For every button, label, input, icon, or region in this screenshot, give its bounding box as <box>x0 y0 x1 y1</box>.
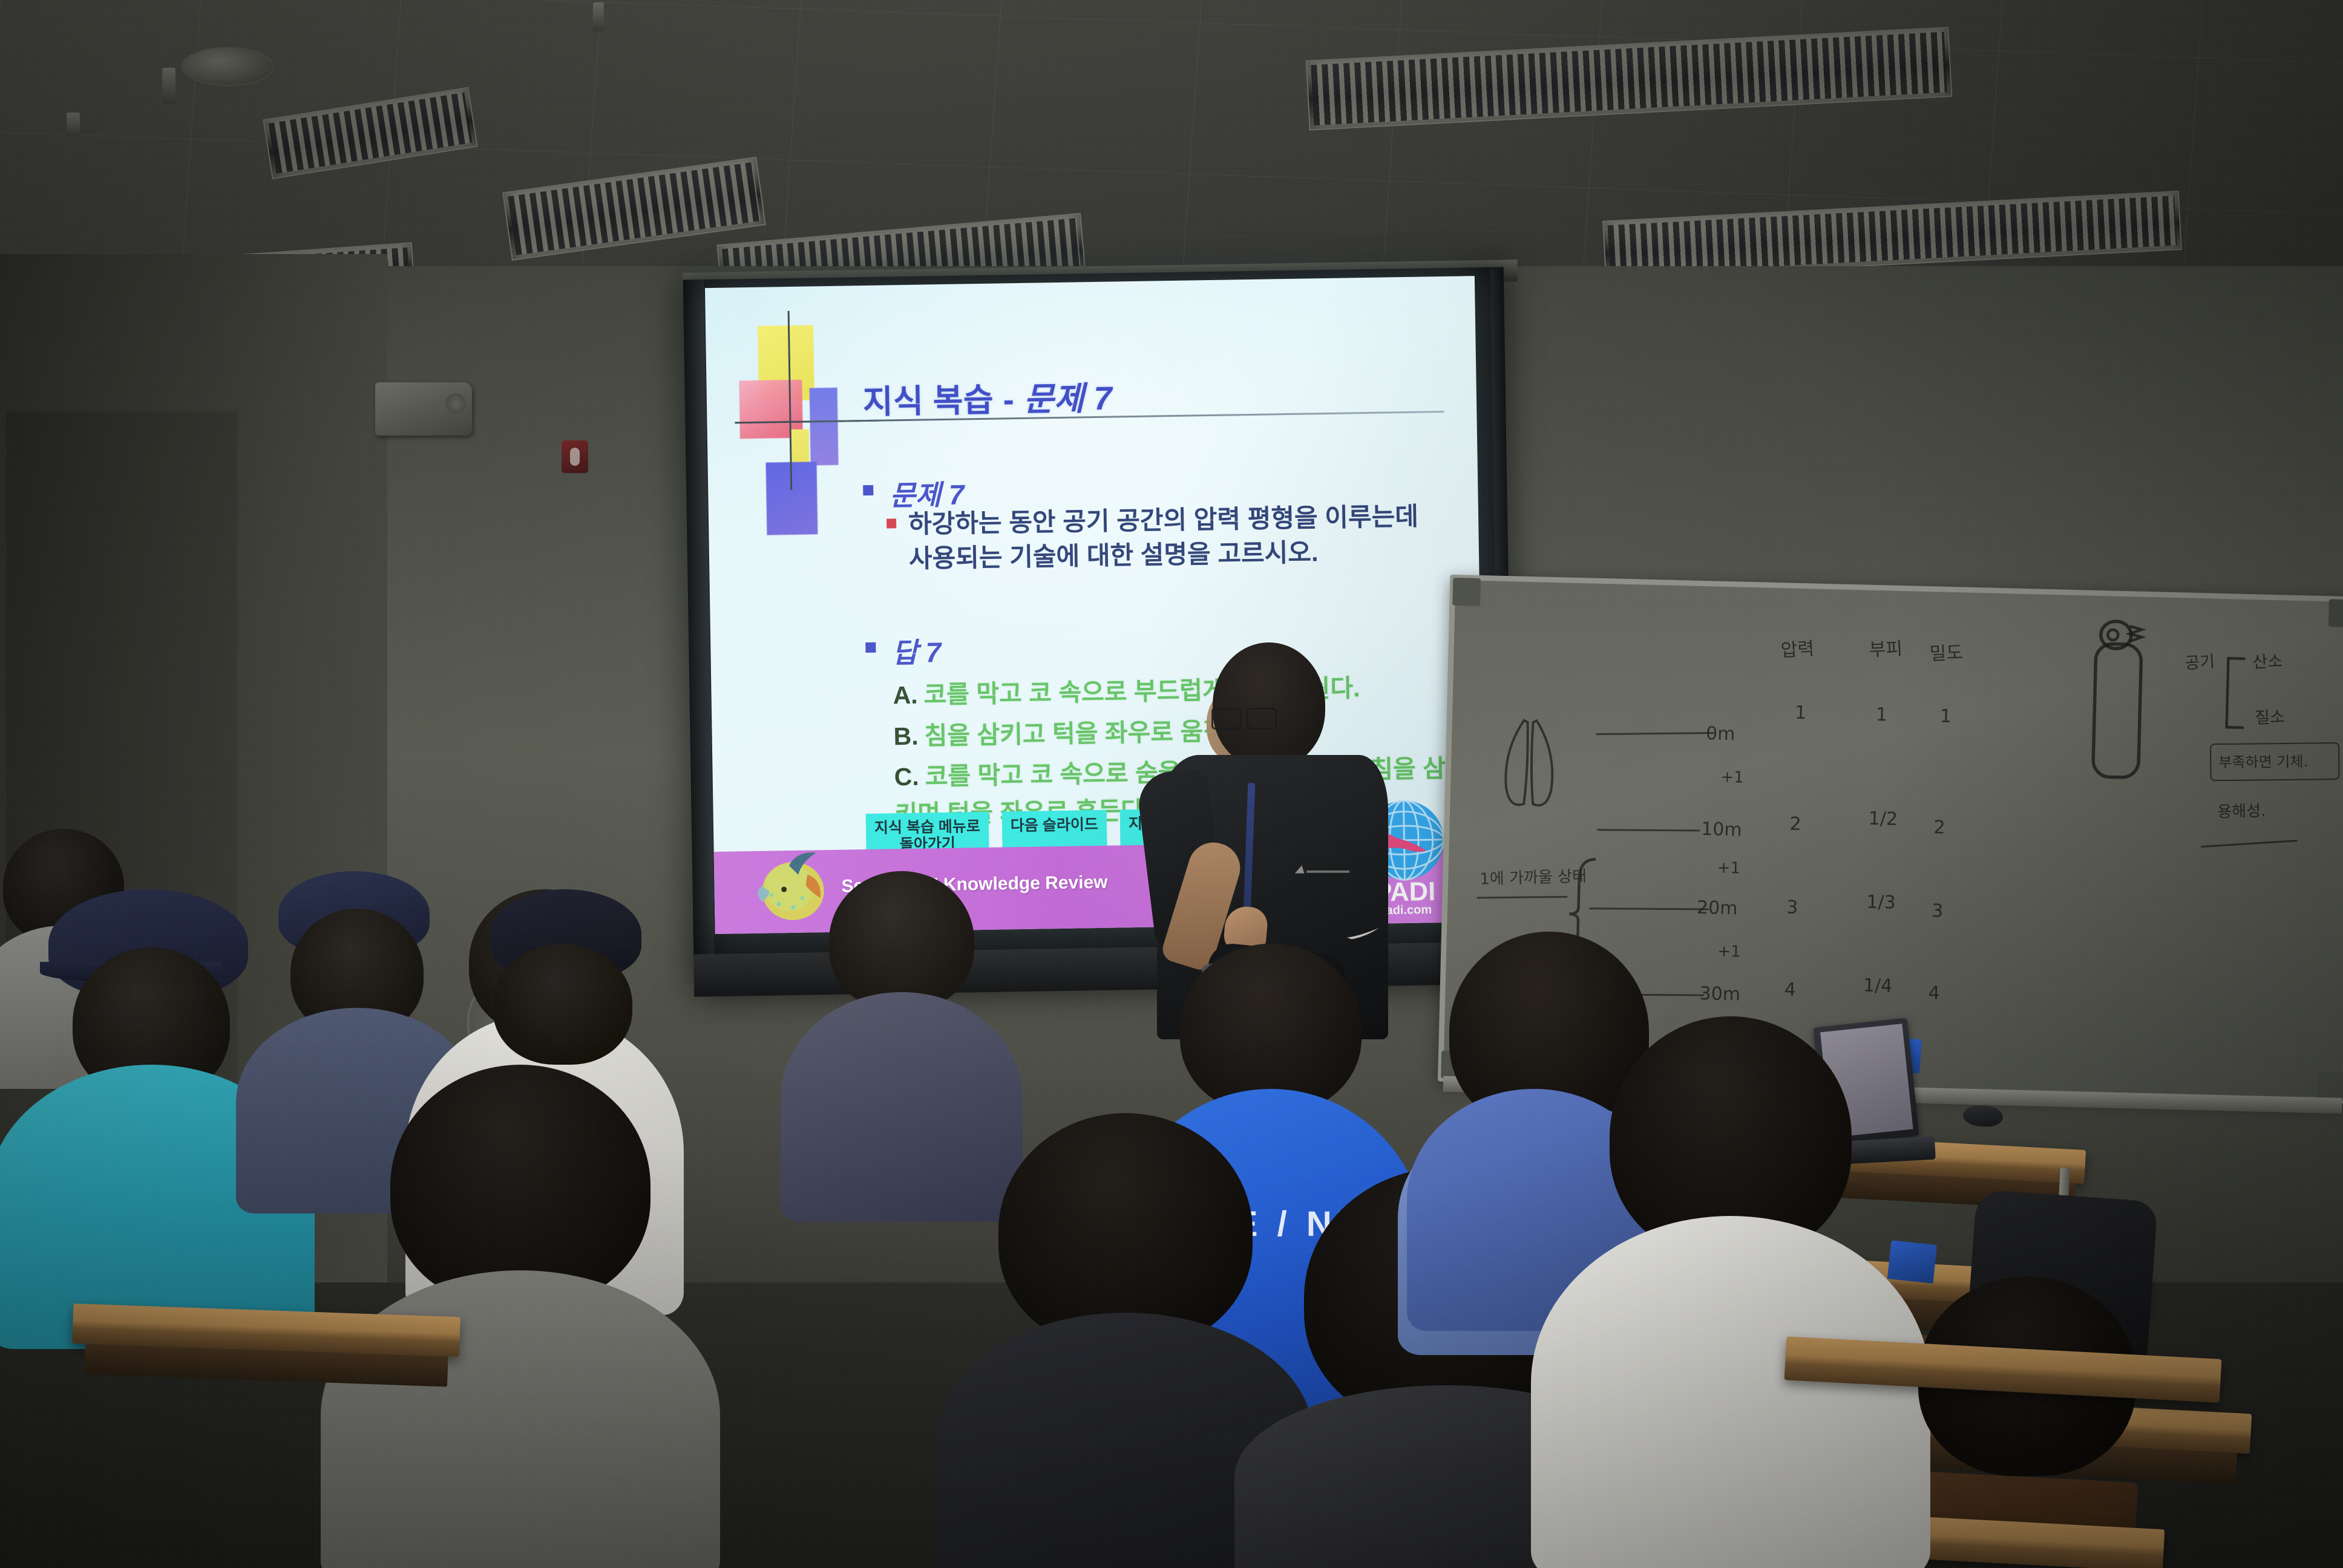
nike-swoosh-icon <box>1346 927 1381 940</box>
shirt-brand-logo <box>1294 864 1352 876</box>
answer-key-a: A. <box>893 681 918 710</box>
head <box>1180 944 1362 1113</box>
answer-heading: 답 7 <box>892 630 942 671</box>
glasses-icon <box>1211 708 1277 728</box>
value-density-0m: 1 <box>1940 706 1952 727</box>
nav-button-next-slide-label: 다음 슬라이드 <box>1011 816 1098 835</box>
value-volume-0m: 1 <box>1876 704 1888 725</box>
value-volume-20m: 1/3 <box>1866 892 1896 913</box>
slide-decoration <box>737 310 862 541</box>
value-pressure-30m: 4 <box>1784 979 1796 1000</box>
square-bullet-icon <box>886 518 896 528</box>
value-pressure-20m: 3 <box>1786 897 1798 918</box>
classroom-photo: 지식 복습 - 문제 7 문제 7 하강하는 동안 공기 공간의 압력 평형을 … <box>0 0 2343 1568</box>
slide-title-main: 지식 복습 <box>863 382 994 420</box>
question-text-label: 하강하는 동안 공기 공간의 압력 평형을 이루는데 사용되는 기술에 대한 설… <box>908 502 1418 573</box>
depth-line-0m <box>1596 732 1714 735</box>
sprinkler-icon <box>67 113 80 137</box>
tank-note-nitrogen: 질소 <box>2254 704 2285 728</box>
tank-note-bracket-icon <box>2219 655 2250 734</box>
sprinkler-icon <box>593 2 604 31</box>
tank-note-air: 공기 <box>2184 648 2215 674</box>
value-density-30m: 4 <box>1928 982 1940 1004</box>
square-bullet-icon <box>865 642 876 653</box>
step-mark-1: +1 <box>1720 768 1744 787</box>
whiteboard-corner <box>1452 578 1481 606</box>
question-text: 하강하는 동안 공기 공간의 압력 평형을 이루는데 사용되는 기술에 대한 설… <box>908 499 1442 576</box>
nav-button-back-to-menu-line1: 지식 복습 메뉴로 <box>874 818 980 837</box>
column-header-density: 밀도 <box>1929 638 1964 665</box>
value-pressure-0m: 1 <box>1795 702 1807 724</box>
value-volume-10m: 1/2 <box>1868 808 1898 830</box>
slide-title-question: 문제 7 <box>1023 381 1112 418</box>
answer-key-c: C. <box>894 763 919 791</box>
tank-note-boxed: 부족하면 기체. <box>2218 750 2308 772</box>
slide-title: 지식 복습 - 문제 7 <box>862 371 1112 423</box>
depth-label-0m: 0m <box>1706 723 1735 745</box>
column-header-volume: 부피 <box>1869 633 1903 661</box>
decor-blue-block-small <box>810 388 839 466</box>
depth-label-10m: 10m <box>1701 818 1742 841</box>
depth-line-10m <box>1597 829 1700 831</box>
scuba-tank-sketch-icon <box>2071 610 2166 794</box>
step-mark-2: +1 <box>1717 859 1740 878</box>
value-density-10m: 2 <box>1933 817 1945 838</box>
column-header-pressure: 압력 <box>1780 633 1815 662</box>
head <box>493 944 632 1065</box>
value-density-20m: 3 <box>1932 900 1944 921</box>
audience-member-black-cap <box>460 889 666 1071</box>
ceiling-speaker-icon <box>182 47 274 86</box>
square-bullet-icon <box>863 485 873 495</box>
value-volume-30m: 1/4 <box>1863 975 1893 997</box>
depth-label-20m: 20m <box>1697 897 1738 920</box>
whiteboard-corner <box>2317 1072 2343 1100</box>
tank-note-solubility: 용해성. <box>2217 799 2266 822</box>
sprinkler-icon <box>162 68 175 104</box>
tank-note-oxygen: 산소 <box>2252 648 2283 673</box>
whiteboard-corner <box>2328 599 2343 627</box>
depth-line-20m <box>1589 907 1709 910</box>
head <box>829 871 974 1010</box>
fire-alarm-icon[interactable] <box>562 440 588 473</box>
answer-heading-label: 답 7 <box>892 636 941 668</box>
step-mark-3: +1 <box>1717 942 1741 961</box>
answer-key-b: B. <box>893 722 919 750</box>
presenter-head <box>1213 642 1325 768</box>
wall-speaker-icon <box>375 382 472 436</box>
lungs-sketch-icon <box>1483 714 1576 825</box>
whiteboard-underline <box>2201 840 2298 848</box>
slide-title-separator: - <box>1003 382 1014 418</box>
whiteboard-underline <box>1476 896 1567 899</box>
value-pressure-10m: 2 <box>1789 814 1801 835</box>
audience-member-far-right <box>1840 1276 2215 1568</box>
